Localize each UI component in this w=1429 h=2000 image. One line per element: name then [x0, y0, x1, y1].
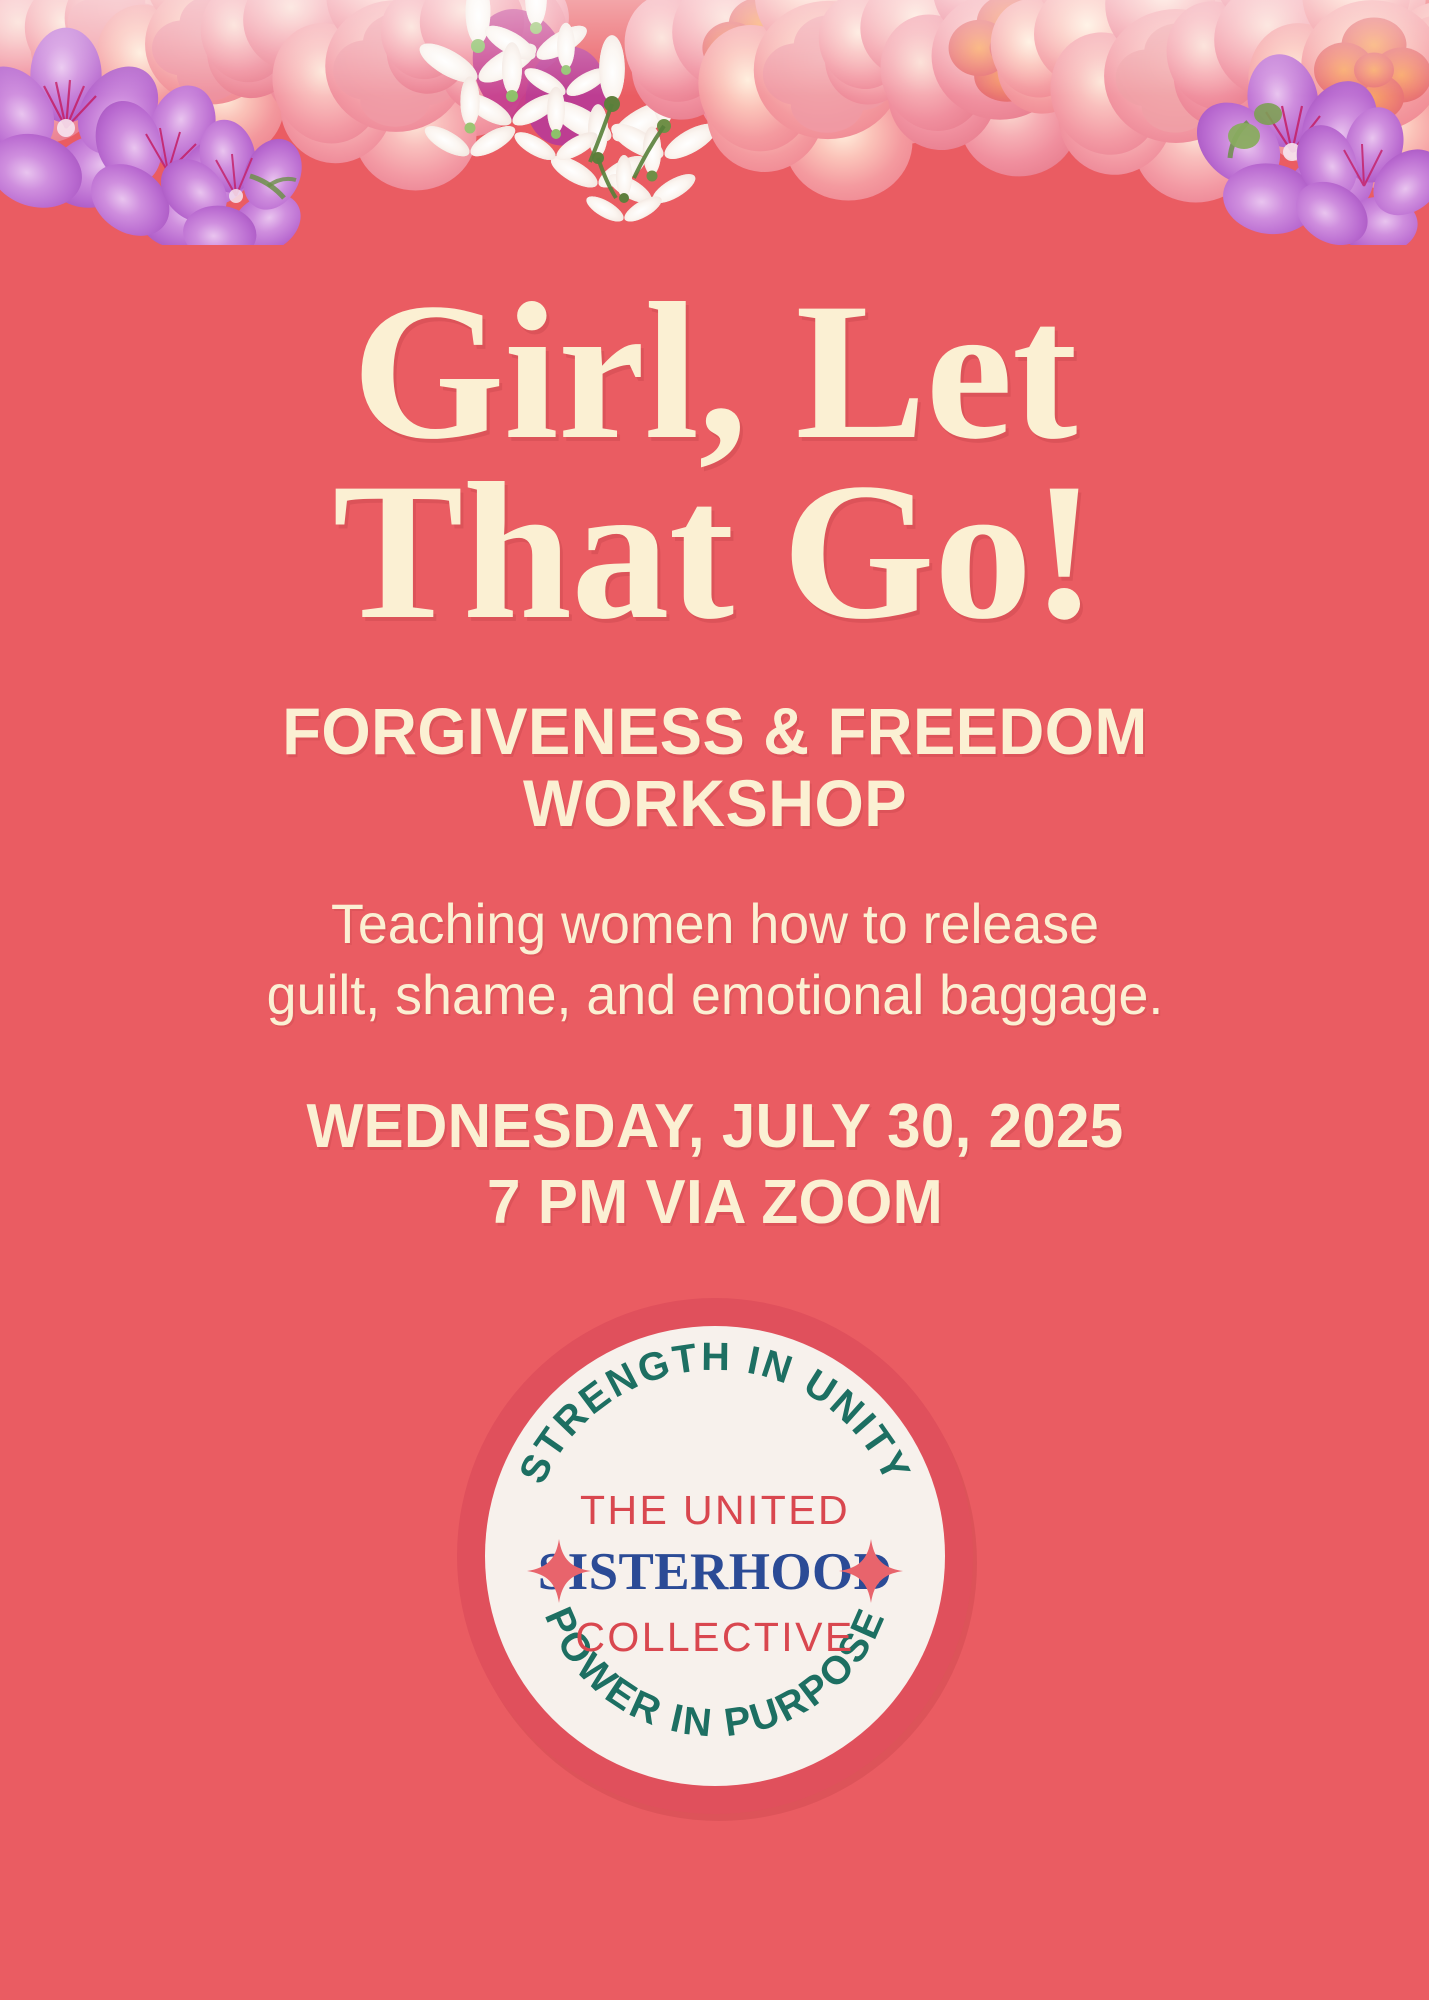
subtitle-line-2: WORKSHOP — [167, 767, 1261, 840]
badge-arc-top-label: STRENGTH IN UNITY — [455, 1816, 456, 1817]
subtitle: FORGIVENESS & FREEDOM WORKSHOP — [167, 695, 1261, 840]
badge-name-line-3: COLLECTIVE — [575, 1614, 854, 1660]
poster-content: Girl, Let That Go! FORGIVENESS & FREEDOM… — [0, 0, 1429, 2000]
headline-line-1: Girl, Let — [125, 282, 1305, 462]
subtitle-line-1: FORGIVENESS & FREEDOM — [167, 695, 1261, 768]
event-time: 7 PM VIA ZOOM — [142, 1165, 1287, 1241]
event-datetime: WEDNESDAY, JULY 30, 2025 7 PM VIA ZOOM — [142, 1089, 1287, 1240]
event-date: WEDNESDAY, JULY 30, 2025 — [142, 1089, 1287, 1165]
poster-canvas: Girl, Let That Go! FORGIVENESS & FREEDOM… — [0, 0, 1429, 2000]
badge-name-line-1: THE UNITED — [580, 1487, 850, 1533]
badge-arc-bottom-label: POWER IN PURPOSE — [455, 1816, 456, 1817]
headline-line-2: That Go! — [125, 462, 1305, 642]
description: Teaching women how to release guilt, sha… — [163, 888, 1267, 1031]
organization-logo-badge: STRENGTH IN UNITY POWER IN PURPOSE THE U… — [455, 1296, 975, 1816]
description-line-2: guilt, shame, and emotional baggage. — [163, 959, 1267, 1031]
badge-name-line-2: SISTERHOOD — [537, 1543, 892, 1601]
page-title: Girl, Let That Go! — [125, 282, 1305, 643]
description-line-1: Teaching women how to release — [163, 888, 1267, 960]
